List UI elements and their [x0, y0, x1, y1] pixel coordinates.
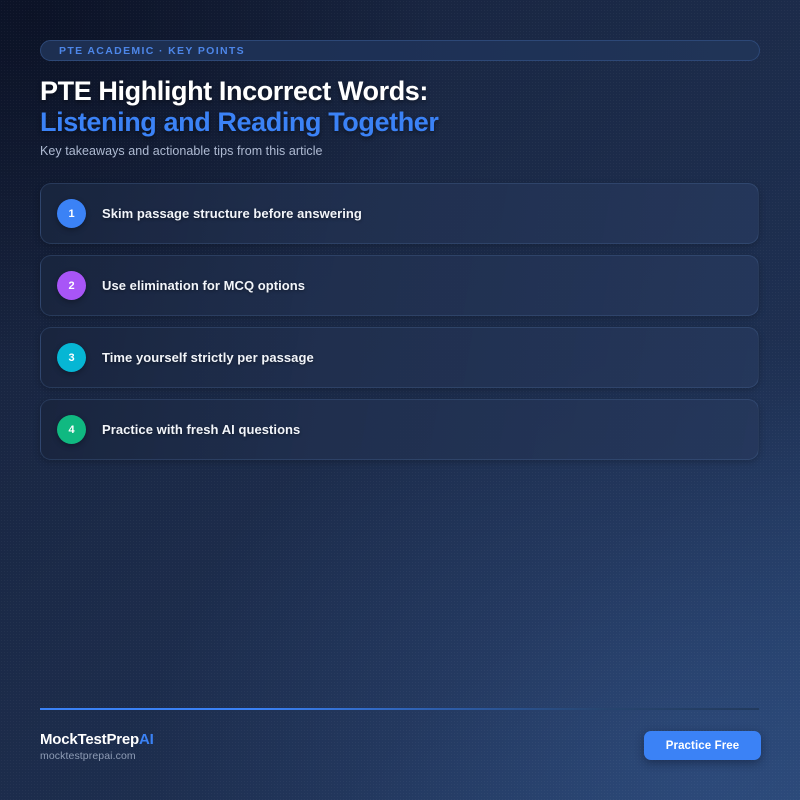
brand-name: MockTestPrepAI [40, 731, 154, 748]
brand-name-accent: AI [139, 731, 154, 748]
practice-free-button[interactable]: Practice Free [644, 731, 761, 760]
point-number-badge: 2 [57, 271, 86, 300]
title-line-primary: PTE Highlight Incorrect Words: [40, 76, 760, 107]
list-item[interactable]: 3 Time yourself strictly per passage [40, 327, 759, 388]
page-title: PTE Highlight Incorrect Words: Listening… [40, 76, 760, 138]
list-item[interactable]: 4 Practice with fresh AI questions [40, 399, 759, 460]
point-text: Skim passage structure before answering [102, 206, 362, 221]
point-text: Practice with fresh AI questions [102, 422, 300, 437]
list-item[interactable]: 2 Use elimination for MCQ options [40, 255, 759, 316]
list-item[interactable]: 1 Skim passage structure before answerin… [40, 183, 759, 244]
category-badge: PTE ACADEMIC · KEY POINTS [40, 40, 760, 61]
point-number-badge: 4 [57, 415, 86, 444]
footer-divider [40, 708, 759, 710]
point-text: Time yourself strictly per passage [102, 350, 314, 365]
key-points-list: 1 Skim passage structure before answerin… [40, 183, 759, 471]
category-badge-label: PTE ACADEMIC · KEY POINTS [59, 45, 245, 57]
point-text: Use elimination for MCQ options [102, 278, 305, 293]
page-subtitle: Key takeaways and actionable tips from t… [40, 144, 323, 158]
key-points-card: PTE ACADEMIC · KEY POINTS PTE Highlight … [0, 0, 800, 800]
title-line-secondary: Listening and Reading Together [40, 107, 760, 138]
brand-name-main: MockTestPrep [40, 731, 139, 748]
point-number-badge: 3 [57, 343, 86, 372]
brand-logo: MockTestPrepAI mocktestprepai.com [40, 731, 154, 762]
brand-url: mocktestprepai.com [40, 750, 154, 762]
point-number-badge: 1 [57, 199, 86, 228]
